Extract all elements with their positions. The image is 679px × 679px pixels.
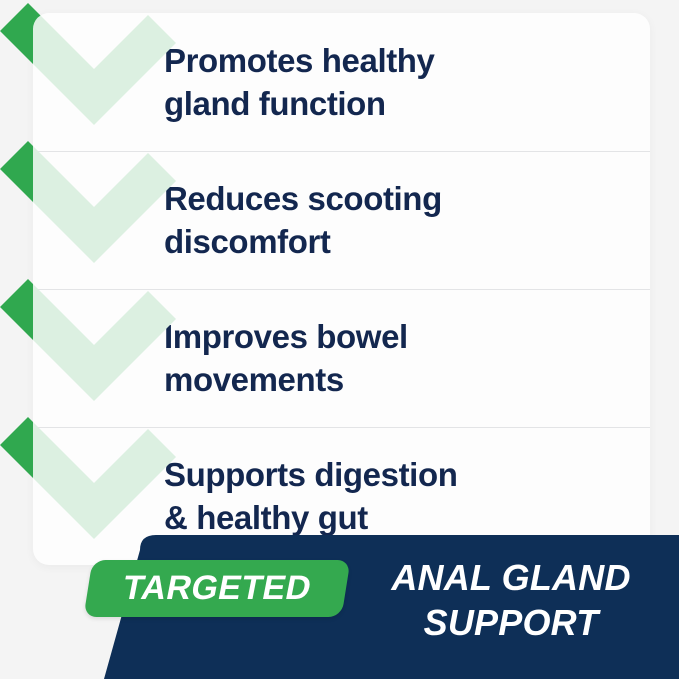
- benefit-text: Promotes healthy gland function: [164, 39, 604, 125]
- benefit-line-1: Supports digestion: [164, 456, 457, 493]
- targeted-badge-label: TARGETED: [82, 560, 351, 617]
- headline-line-1: ANAL GLAND: [356, 555, 666, 600]
- row-divider: [33, 151, 650, 152]
- bottom-banner: TARGETED ANAL GLAND SUPPORT: [0, 520, 679, 679]
- benefit-line-2: movements: [164, 361, 344, 398]
- targeted-badge: TARGETED: [83, 560, 350, 617]
- benefit-text: Improves bowel movements: [164, 315, 604, 401]
- banner-headline: ANAL GLAND SUPPORT: [356, 555, 666, 645]
- benefit-row: Improves bowel movements: [33, 289, 650, 427]
- benefit-line-1: Reduces scooting: [164, 180, 442, 217]
- benefit-row: Reduces scooting discomfort: [33, 151, 650, 289]
- benefit-text: Reduces scooting discomfort: [164, 177, 604, 263]
- product-feature-graphic: Promotes healthy gland function Reduces …: [0, 0, 679, 679]
- row-divider: [33, 427, 650, 428]
- row-divider: [33, 289, 650, 290]
- benefit-line-1: Promotes healthy: [164, 42, 435, 79]
- benefit-line-2: discomfort: [164, 223, 331, 260]
- benefit-row: Promotes healthy gland function: [33, 13, 650, 151]
- headline-line-2: SUPPORT: [356, 600, 666, 645]
- benefits-card: Promotes healthy gland function Reduces …: [33, 13, 650, 565]
- benefit-line-1: Improves bowel: [164, 318, 408, 355]
- benefit-line-2: gland function: [164, 85, 386, 122]
